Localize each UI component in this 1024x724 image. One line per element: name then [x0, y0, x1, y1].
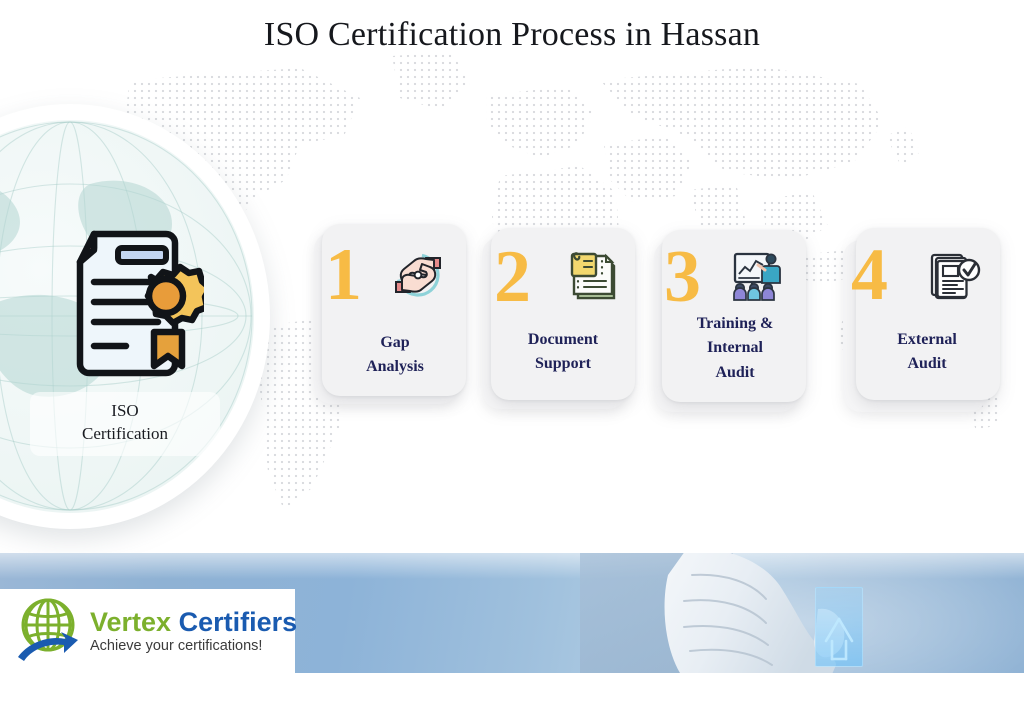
step-label-3: Training & Internal Audit	[660, 312, 810, 385]
step-label-1-line2: Analysis	[366, 358, 424, 375]
documents-check-icon	[927, 248, 983, 306]
step-label-2-line1: Document	[528, 331, 598, 348]
training-presentation-icon	[729, 248, 785, 306]
handshake-icon	[390, 246, 446, 304]
step-number-1: 1	[325, 238, 362, 312]
step-label-2: Document Support	[488, 328, 638, 377]
logo-tagline: Achieve your certifications!	[90, 638, 297, 654]
upload-arrow-icon	[818, 611, 860, 663]
logo-name: Vertex Certifiers	[90, 608, 297, 636]
step-label-1: Gap Analysis	[320, 331, 470, 380]
logo-wordmark: Vertex Certifiers Achieve your certifica…	[90, 608, 297, 654]
step-label-2-line2: Support	[535, 355, 591, 372]
document-notes-icon	[564, 248, 620, 306]
globe-arrow-logo-icon	[14, 595, 86, 667]
logo-name-part1: Vertex	[90, 607, 171, 637]
step-label-4: External Audit	[852, 328, 1002, 377]
step-label-3-line3: Audit	[715, 364, 754, 381]
step-label-3-line1: Training &	[697, 315, 774, 332]
step-label-3-line2: Internal	[707, 339, 763, 356]
step-label-4-line2: Audit	[907, 355, 946, 372]
infographic-canvas: ISO Certification Process in Hassan	[0, 0, 1024, 724]
step-number-4: 4	[851, 238, 888, 312]
company-logo[interactable]: Vertex Certifiers Achieve your certifica…	[0, 589, 295, 673]
logo-name-part2: Certifiers	[179, 607, 298, 637]
step-number-2: 2	[494, 240, 531, 314]
process-steps: 1 Gap Analysis 2	[0, 0, 1024, 560]
step-label-4-line1: External	[897, 331, 957, 348]
step-label-1-line1: Gap	[380, 334, 409, 351]
step-number-3: 3	[664, 240, 701, 314]
